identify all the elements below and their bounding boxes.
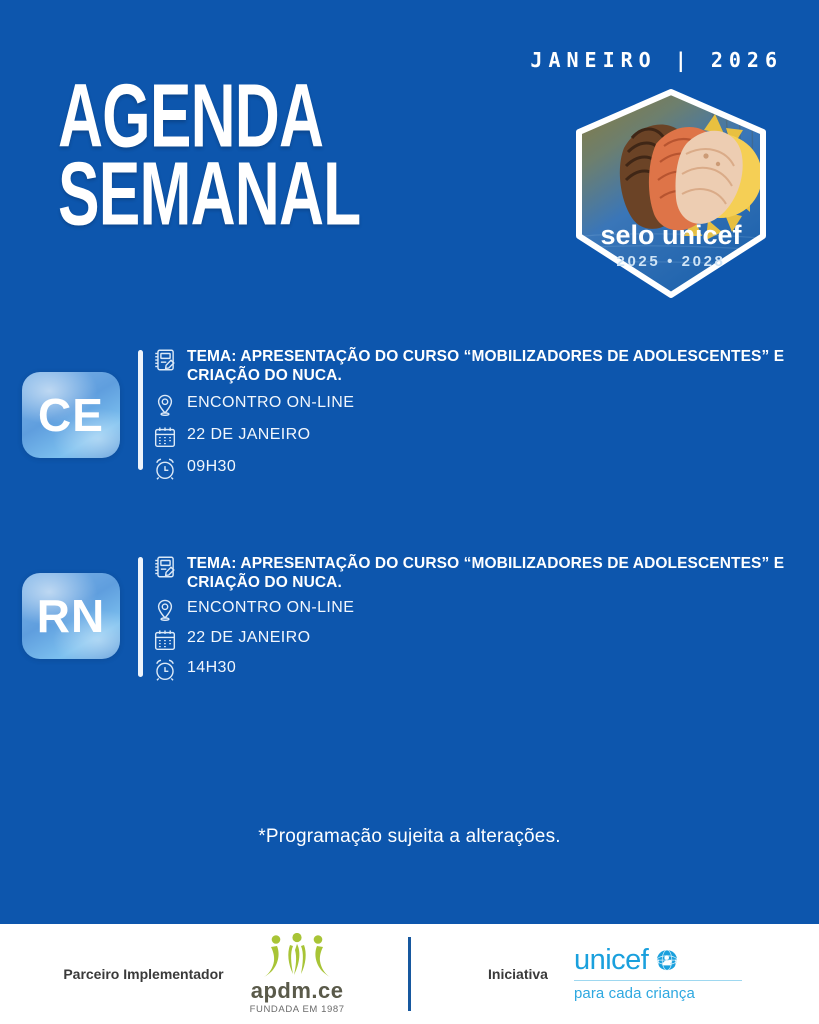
events-list: CE TEMA: APRESENT [0,340,819,747]
detail-row-local: ENCONTRO ON-LINE [152,391,819,418]
event-divider-bar [138,557,143,677]
unicef-divider-rule [574,980,742,981]
detail-row-tema: TEMA: APRESENTAÇÃO DO CURSO “MOBILIZADOR… [152,553,819,593]
apdm-logo: apdm.ce FUNDADA EM 1987 [250,933,345,1015]
event-hora-text: 14H30 [187,656,236,677]
seal-years-text: 2025 • 2028 [617,253,726,270]
event-divider-bar [138,350,143,470]
event-item-ce: CE TEMA: APRESENT [0,340,819,487]
page-title-line-2: SEMANAL [58,156,360,234]
footer-initiative-section: Iniciativa unicef [411,924,819,1024]
detail-row-data: 22 DE JANEIRO [152,423,819,450]
notepad-icon [152,347,178,373]
initiative-label: Iniciativa [488,966,548,982]
page-title: AGENDA SEMANAL [58,78,360,234]
event-data-text: 22 DE JANEIRO [187,423,310,444]
event-local-text: ENCONTRO ON-LINE [187,391,354,412]
alarm-clock-icon [152,456,178,482]
partner-label: Parceiro Implementador [63,966,223,982]
month-year-label: JANEIRO | 2026 [530,48,783,72]
selo-unicef-seal-icon: selo unicef 2025 • 2028 [560,86,782,301]
state-badge-rn: RN [22,573,120,659]
disclaimer-note: *Programação sujeita a alterações. [0,826,819,848]
seal-name-text: selo unicef [600,220,742,250]
alarm-clock-icon [152,657,178,683]
event-tema-text: TEMA: APRESENTAÇÃO DO CURSO “MOBILIZADOR… [187,346,819,386]
location-pin-icon [152,597,178,623]
detail-row-hora: 14H30 [152,656,819,683]
footer: Parceiro Implementador apdm.ce FUNDADA E… [0,920,819,1024]
event-tema-text: TEMA: APRESENTAÇÃO DO CURSO “MOBILIZADOR… [187,553,819,593]
location-pin-icon [152,392,178,418]
apdm-founded-text: FUNDADA EM 1987 [250,1004,345,1015]
notepad-icon [152,554,178,580]
detail-row-tema: TEMA: APRESENTAÇÃO DO CURSO “MOBILIZADOR… [152,346,819,386]
event-item-rn: RN TEMA: APRESENT [0,547,819,687]
unicef-logo-row: unicef [574,946,742,975]
event-data-text: 22 DE JANEIRO [187,626,310,647]
event-hora-text: 09H30 [187,455,236,476]
poster-header: JANEIRO | 2026 AGENDA SEMANAL [0,0,819,320]
state-badge-ce: CE [22,372,120,458]
apdm-people-icon [260,933,334,979]
calendar-icon [152,424,178,450]
unicef-logo: unicef [574,946,742,1002]
apdm-wordmark: apdm.ce [250,980,345,1002]
footer-partner-section: Parceiro Implementador apdm.ce FUNDADA E… [0,924,408,1024]
detail-row-hora: 09H30 [152,455,819,482]
un-emblem-icon [653,947,681,975]
unicef-wordmark: unicef [574,946,648,975]
event-details-ce: TEMA: APRESENTAÇÃO DO CURSO “MOBILIZADOR… [152,340,819,487]
unicef-tagline: para cada criança [574,985,742,1002]
calendar-icon [152,627,178,653]
selo-unicef-seal: selo unicef 2025 • 2028 [560,86,782,301]
detail-row-data: 22 DE JANEIRO [152,626,819,653]
event-local-text: ENCONTRO ON-LINE [187,596,354,617]
event-details-rn: TEMA: APRESENTAÇÃO DO CURSO “MOBILIZADOR… [152,547,819,686]
detail-row-local: ENCONTRO ON-LINE [152,596,819,623]
